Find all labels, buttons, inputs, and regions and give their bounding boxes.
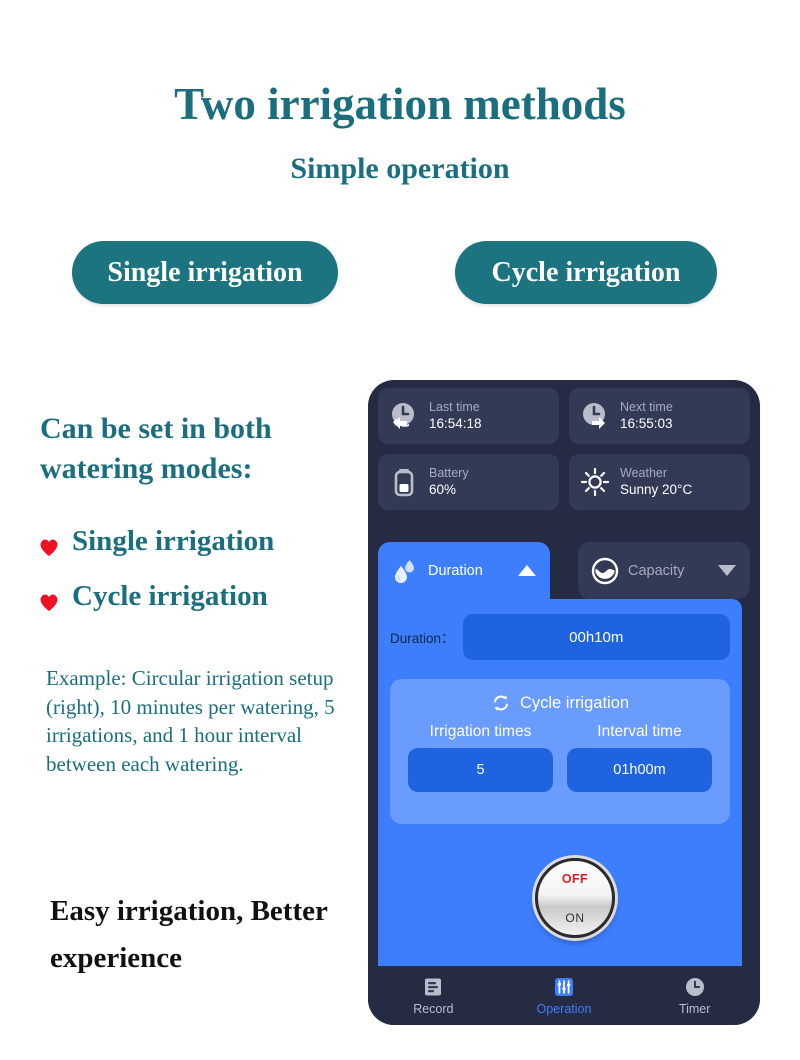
tab-duration[interactable]: Duration	[378, 542, 550, 599]
caret-down-icon[interactable]	[718, 565, 736, 576]
mode-tabs: Duration Capacity	[378, 542, 750, 599]
battery-icon	[387, 465, 421, 499]
tab-capacity-label: Capacity	[628, 563, 718, 579]
cycle-irrigation-title: Cycle irrigation	[520, 694, 629, 713]
field-label: Irrigation times	[430, 723, 532, 741]
caret-up-icon[interactable]	[518, 565, 536, 576]
status-value: 16:54:18	[429, 415, 482, 433]
clock-back-icon	[387, 399, 421, 433]
clock-forward-icon	[578, 399, 612, 433]
status-label: Weather	[620, 466, 692, 481]
nav-label: Record	[413, 1002, 453, 1016]
status-card-last-time[interactable]: Last time 16:54:18	[378, 388, 559, 444]
pill-single-label: Single irrigation	[107, 257, 302, 289]
nav-item-operation[interactable]: Operation	[499, 976, 630, 1016]
tab-capacity[interactable]: Capacity	[578, 542, 750, 599]
clock-icon	[684, 976, 706, 998]
poster-root: Two irrigation methods Simple operation …	[0, 0, 800, 1060]
duration-value-field[interactable]: 00h10m	[463, 614, 730, 660]
duration-panel: Duration： 00h10m Cycle irrigation	[378, 599, 742, 967]
knob-on-label: ON	[565, 911, 584, 925]
sliders-icon	[553, 976, 575, 998]
power-toggle-knob[interactable]: OFF ON	[535, 858, 615, 938]
status-label: Next time	[620, 400, 673, 415]
status-label: Last time	[429, 400, 482, 415]
status-value: 60%	[429, 481, 469, 499]
duration-row: Duration： 00h10m	[390, 614, 730, 660]
phone-app-screenshot: Last time 16:54:18 Next time 16:55:03	[368, 380, 760, 1025]
nav-label: Timer	[679, 1002, 710, 1016]
cycle-irrigation-box: Cycle irrigation Irrigation times 5 Inte…	[390, 679, 730, 824]
repeat-icon	[491, 693, 511, 713]
water-drops-icon	[390, 556, 420, 586]
status-card-weather[interactable]: Weather Sunny 20°C	[569, 454, 750, 510]
heart-icon	[38, 532, 60, 552]
duration-label: Duration：	[390, 627, 455, 647]
pill-single-irrigation[interactable]: Single irrigation	[72, 241, 338, 304]
list-item: Cycle irrigation	[38, 580, 358, 613]
pill-cycle-irrigation[interactable]: Cycle irrigation	[455, 241, 717, 304]
bullet-list: Single irrigation Cycle irrigation	[38, 525, 358, 635]
field-value[interactable]: 01h00m	[567, 748, 712, 792]
nav-label: Operation	[537, 1002, 592, 1016]
status-value: 16:55:03	[620, 415, 673, 433]
field-irrigation-times: Irrigation times 5	[408, 723, 553, 792]
cycle-fields: Irrigation times 5 Interval time 01h00m	[390, 717, 730, 792]
tab-duration-label: Duration	[428, 563, 518, 579]
closing-tagline: Easy irrigation, Better experience	[50, 888, 380, 982]
page-title: Two irrigation methods	[0, 78, 800, 130]
status-card-battery[interactable]: Battery 60%	[378, 454, 559, 510]
pill-cycle-label: Cycle irrigation	[492, 257, 681, 289]
page-subtitle: Simple operation	[0, 152, 800, 186]
list-item: Single irrigation	[38, 525, 358, 558]
nav-item-timer[interactable]: Timer	[629, 976, 760, 1016]
knob-off-label: OFF	[562, 872, 588, 886]
sun-icon	[578, 465, 612, 499]
heart-icon	[38, 587, 60, 607]
status-card-grid: Last time 16:54:18 Next time 16:55:03	[378, 388, 750, 510]
nav-item-record[interactable]: Record	[368, 976, 499, 1016]
list-item-label: Cycle irrigation	[72, 580, 268, 613]
field-label: Interval time	[597, 723, 681, 741]
water-level-circle-icon	[590, 556, 620, 586]
status-label: Battery	[429, 466, 469, 481]
list-item-label: Single irrigation	[72, 525, 274, 558]
lead-text: Can be set in both watering modes:	[40, 409, 350, 489]
record-list-icon	[422, 976, 444, 998]
status-card-next-time[interactable]: Next time 16:55:03	[569, 388, 750, 444]
cycle-irrigation-header: Cycle irrigation	[390, 689, 730, 717]
example-note: Example: Circular irrigation setup (righ…	[46, 664, 336, 778]
bottom-nav: Record Operat	[368, 966, 760, 1025]
field-value[interactable]: 5	[408, 748, 553, 792]
status-value: Sunny 20°C	[620, 481, 692, 499]
field-interval-time: Interval time 01h00m	[567, 723, 712, 792]
